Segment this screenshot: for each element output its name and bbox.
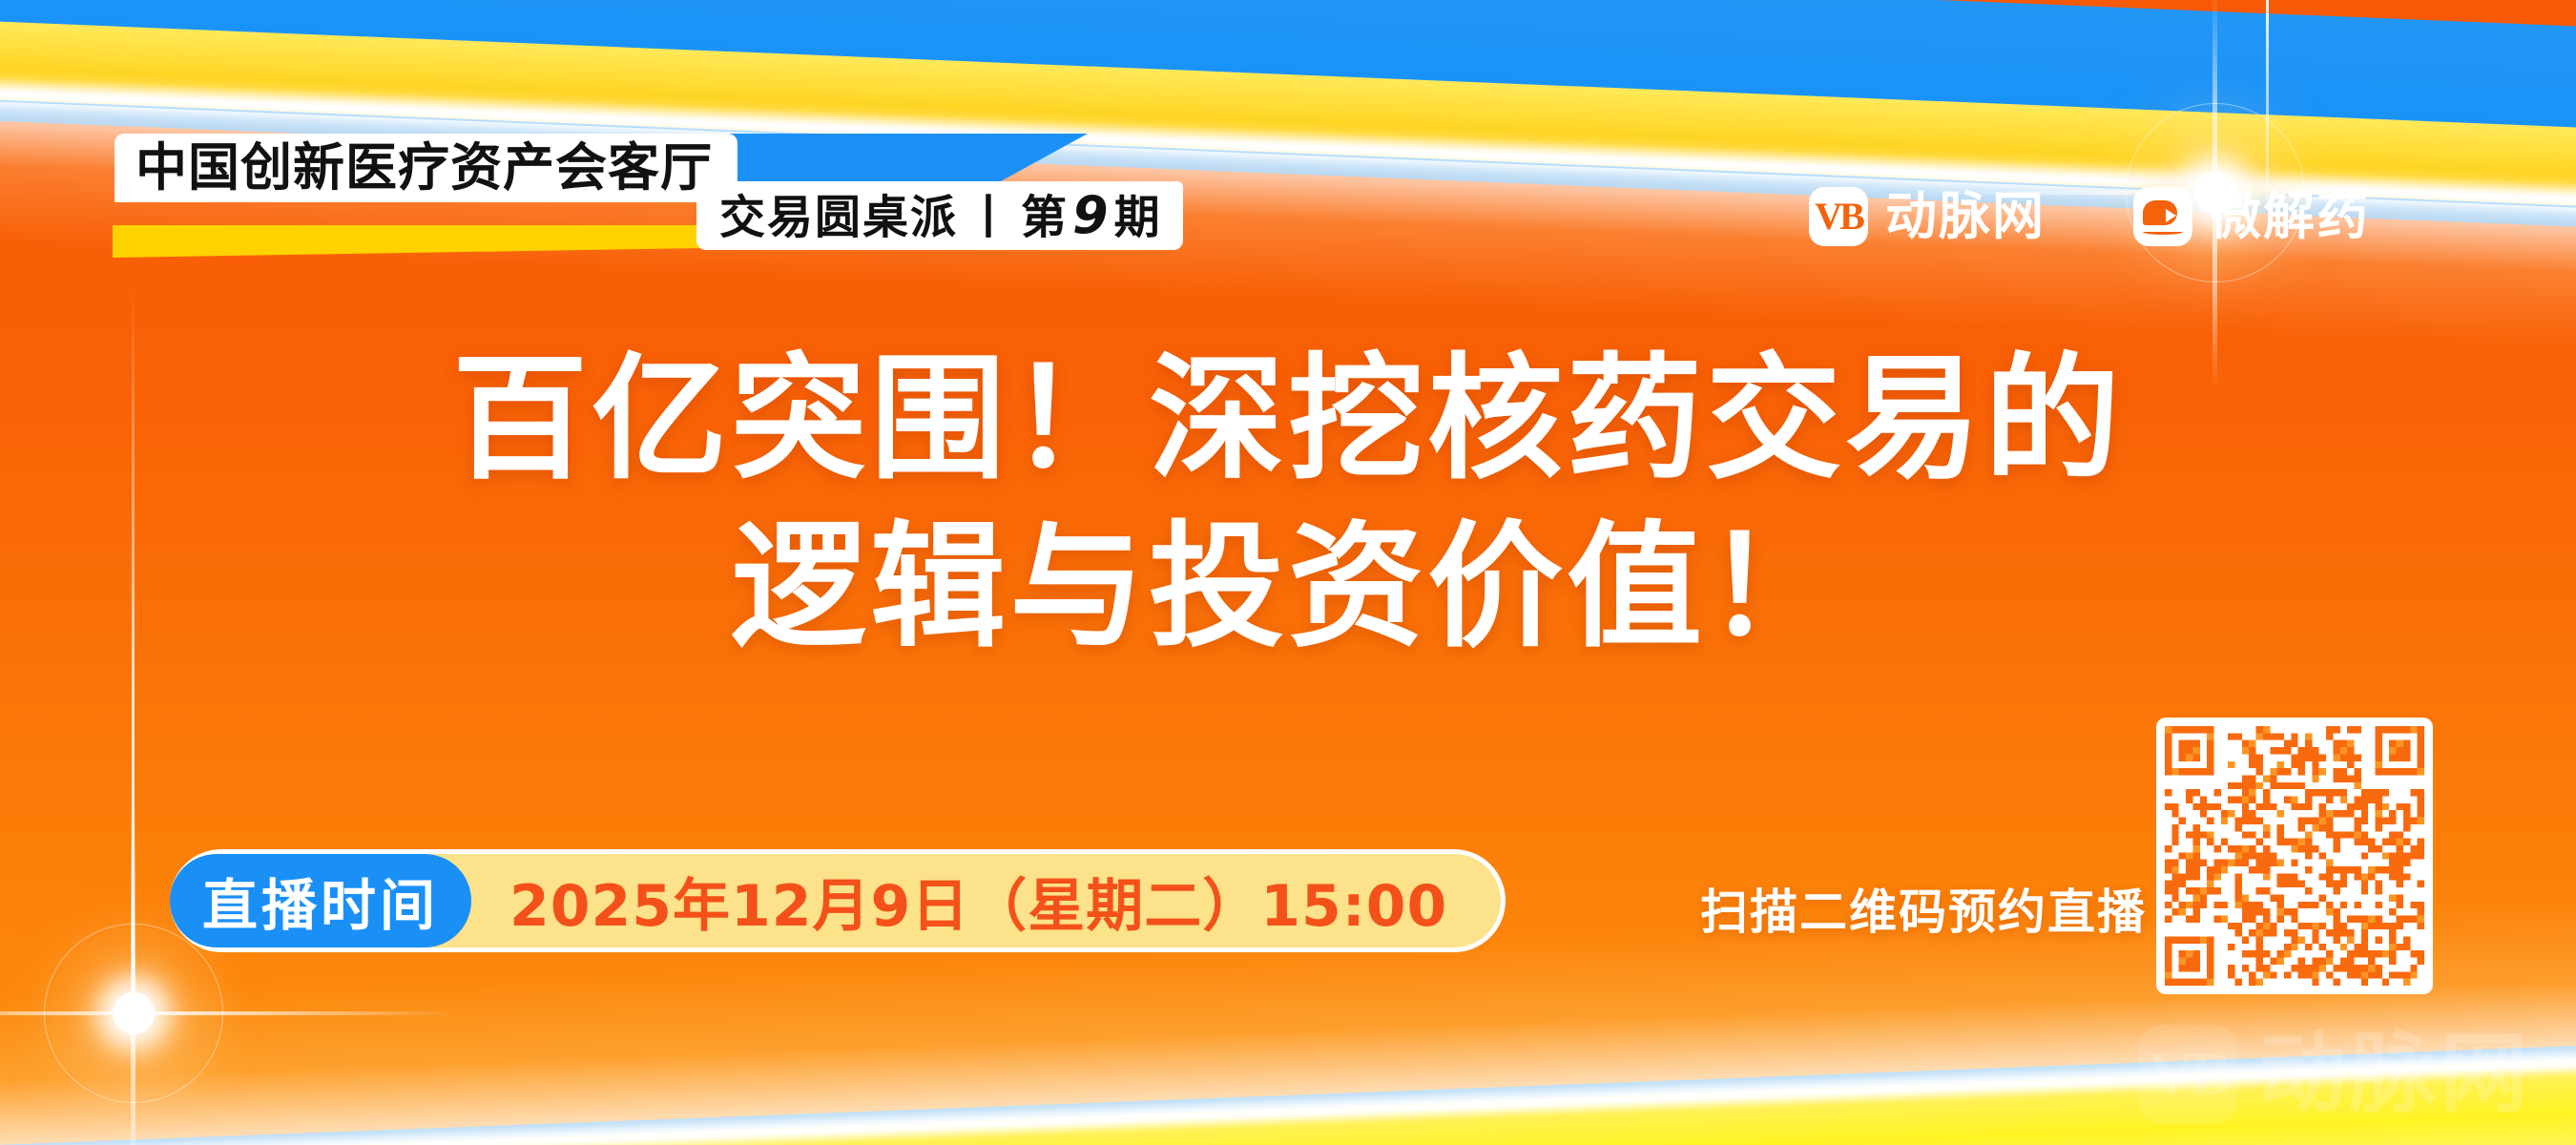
top-right-hairline-decoration — [2266, 0, 2269, 200]
schedule-tag-label: 直播时间 — [170, 854, 471, 947]
episode-number: 9 — [1069, 185, 1114, 245]
page-title: 百亿突围！深挖核药交易的 逻辑与投资价值！ — [0, 336, 2576, 672]
brand-logo-group: VB 动脉网 微解药 — [1809, 187, 2370, 246]
schedule-pill: 直播时间 2025年12月9日（星期二）15:00 — [170, 849, 1506, 952]
qr-caption: 扫描二维码预约直播 — [1700, 874, 2147, 943]
wave-underline-shape — [2143, 229, 2183, 235]
schedule-datetime: 2025年12月9日（星期二）15:00 — [471, 860, 1447, 943]
title-line-2: 逻辑与投资价值！ — [0, 504, 2576, 672]
brand-weijieyao: 微解药 — [2133, 187, 2370, 246]
title-line-1: 百亿突围！深挖核药交易的 — [0, 336, 2576, 504]
brand-name-weijieyao: 微解药 — [2210, 191, 2370, 242]
series-badge-label: 中国创新医疗资产会客厅 — [135, 141, 713, 195]
vb-logo-icon: VB — [1809, 187, 1868, 246]
episode-prefix: 交易圆桌派 — [719, 191, 958, 244]
episode-badge-label: 交易圆桌派丨第9期 — [719, 188, 1162, 242]
weijieyao-logo-icon — [2133, 187, 2192, 246]
play-triangle-shape — [2166, 209, 2176, 222]
vb-logo-text: VB — [1815, 198, 1862, 236]
watermark-vb-text: VB — [2149, 1043, 2227, 1106]
promo-banner: 中国创新医疗资产会客厅 交易圆桌派丨第9期 VB 动脉网 微解药 百亿 — [0, 0, 2576, 1145]
speech-bubble-play-icon — [2143, 200, 2183, 233]
episode-label-pre: 第 — [1021, 191, 1069, 244]
episode-label-post: 期 — [1114, 191, 1162, 244]
qr-code-canvas — [2165, 726, 2424, 986]
brand-name-mainmaiwang: 动脉网 — [1885, 191, 2046, 242]
watermark-vb-logo-icon: VB — [2138, 1025, 2237, 1124]
brand-mainmaiwang: VB 动脉网 — [1809, 187, 2046, 246]
qr-code-icon[interactable] — [2156, 718, 2433, 994]
watermark: VB 动脉网 — [2138, 1025, 2530, 1124]
watermark-text: 动脉网 — [2258, 1030, 2530, 1118]
series-badge: 中国创新医疗资产会客厅 — [114, 134, 737, 202]
header-badge-group: 中国创新医疗资产会客厅 交易圆桌派丨第9期 — [114, 134, 737, 202]
episode-badge: 交易圆桌派丨第9期 — [696, 181, 1183, 250]
episode-divider: 丨 — [958, 191, 1021, 244]
